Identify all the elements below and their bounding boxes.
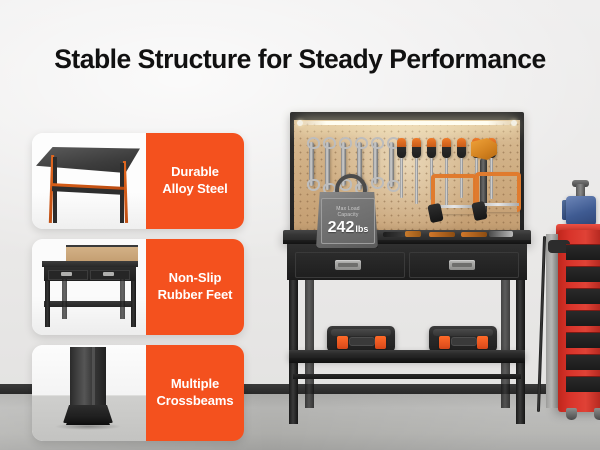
tool-chest-drawer xyxy=(566,376,600,392)
feature-caption-2: Non-Slip Rubber Feet xyxy=(146,239,244,335)
tool-case-latch xyxy=(477,336,488,349)
led-end-cap xyxy=(511,120,517,126)
drawer-right-handle[interactable] xyxy=(449,260,475,270)
bench-tool-chisel xyxy=(461,232,487,237)
wrench-icon xyxy=(389,142,394,187)
bench-vise xyxy=(566,196,596,226)
caster-wheel xyxy=(594,408,600,420)
max-load-number: 242 xyxy=(328,219,355,236)
bench-tool-pliers xyxy=(383,232,405,237)
caster-wheel xyxy=(566,408,577,420)
tool-chest-drawer xyxy=(566,288,600,304)
feature-caption-1: Durable Alloy Steel xyxy=(146,133,244,229)
tool-chest-drawer xyxy=(566,332,600,348)
hacksaw-icon xyxy=(475,172,521,212)
feature-caption-2-line1: Non-Slip xyxy=(169,270,222,285)
wrench-icon xyxy=(309,142,314,186)
wrench-icon xyxy=(373,142,378,184)
max-load-capacity-plate: Max Load Capacity 242lbs xyxy=(316,192,378,248)
max-load-unit: lbs xyxy=(355,224,368,234)
tool-chest-drawer xyxy=(566,354,600,370)
bench-crossbeam xyxy=(293,374,521,379)
hacksaw-icon xyxy=(431,174,477,214)
feature-caption-2-line2: Rubber Feet xyxy=(158,287,233,302)
bench-tool-chisel xyxy=(429,232,455,237)
tool-chest-drawer xyxy=(566,244,600,260)
tool-chest-drawer xyxy=(566,310,600,326)
feature-caption-3: Multiple Crossbeams xyxy=(146,345,244,441)
feature-card-non-slip-rubber-feet: Non-Slip Rubber Feet xyxy=(32,239,244,335)
led-end-cap xyxy=(297,120,303,126)
max-load-value: 242lbs xyxy=(328,220,369,236)
feature-caption-1-line1: Durable xyxy=(171,164,219,179)
bench-tool-wrench xyxy=(489,231,513,237)
bench-tool-handle xyxy=(405,231,421,237)
product-feature-banner: Max Load Capacity 242lbs xyxy=(0,0,600,450)
tool-case-left xyxy=(327,326,395,352)
drawer-left-handle[interactable] xyxy=(335,260,361,270)
tool-chest-drawer xyxy=(566,266,600,282)
feature-caption-3-line2: Crossbeams xyxy=(156,393,233,408)
feature-photo-leg-foot-closeup xyxy=(32,345,146,441)
bench-lower-shelf-lip xyxy=(289,358,525,363)
feature-card-multiple-crossbeams: Multiple Crossbeams xyxy=(32,345,244,441)
feature-photo-frame-corner xyxy=(32,133,146,229)
feature-caption-1-text: Durable Alloy Steel xyxy=(162,164,227,197)
feature-card-durable-alloy-steel: Durable Alloy Steel xyxy=(32,133,244,229)
bench-leg-rear-right xyxy=(501,280,510,408)
wrench-icon xyxy=(325,142,330,190)
steel-workbench: Max Load Capacity 242lbs xyxy=(283,112,531,424)
page-title: Stable Structure for Steady Performance xyxy=(30,44,570,74)
tool-case-latch xyxy=(337,336,348,349)
feature-caption-3-line1: Multiple xyxy=(171,376,219,391)
feature-caption-3-text: Multiple Crossbeams xyxy=(156,376,233,409)
tool-case-latch xyxy=(375,336,386,349)
feature-caption-1-line2: Alloy Steel xyxy=(162,181,227,196)
feature-caption-2-text: Non-Slip Rubber Feet xyxy=(158,270,233,303)
bench-leg-rear-left xyxy=(305,280,314,408)
led-light-strip xyxy=(301,121,513,125)
tool-case-right xyxy=(429,326,497,352)
max-load-caption-line2: Capacity xyxy=(337,212,358,218)
tool-case-latch xyxy=(439,336,450,349)
feature-photo-full-workbench xyxy=(32,239,146,335)
